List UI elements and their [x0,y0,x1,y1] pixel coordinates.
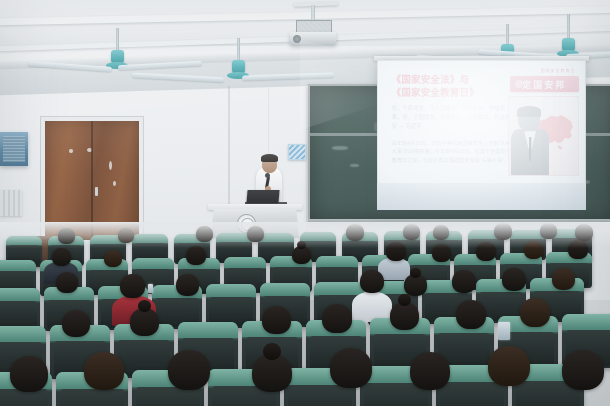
projector-mount-pole [311,5,315,21]
laptop[interactable] [246,190,279,203]
student-head [390,302,419,330]
lecture-hall-photo: 《国家安全法》与 《国家安全教育日》 安，千民兆言，乃人之根本，合民乐业，李福安… [0,0,610,406]
student-head [456,300,486,329]
student-head [346,224,364,241]
student-head [196,226,213,242]
cabinet-vent [3,136,25,162]
student-head [452,270,476,293]
student-head [262,306,291,334]
slide-lower-band [377,183,586,210]
slide-title-line-1: 《国家安全法》与 [392,74,509,88]
student-head [552,268,575,290]
smartphone[interactable] [498,322,510,340]
student-head [410,352,450,390]
student-head [186,246,206,265]
door-scuff [69,149,73,153]
ceiling-fan[interactable] [518,14,610,54]
slide-badge-text: 定国安邦 [522,78,566,91]
door-scuff [87,148,92,152]
student-head [524,241,543,259]
student-head [433,225,449,240]
student-head [247,226,264,242]
student-head [330,348,372,388]
student-head [58,228,75,244]
door-scuff [109,161,112,170]
wall-cabinet[interactable] [0,132,28,166]
speaker-hair [261,154,278,162]
student-head [130,308,159,336]
slide-title-line-2: 《国家安全教育日》 [392,87,509,101]
student-head [322,304,352,333]
student-head [562,350,604,390]
student-head [540,223,557,239]
slide-title: 《国家安全法》与 《国家安全教育日》 [392,74,509,102]
slide-quote: 安，千民兆言，乃人之根本，合民乐业，李福安事；安，于国而言，亦是和光，安邦固本，… [392,105,513,131]
ceiling-fan[interactable] [178,38,298,84]
student-head [360,270,384,293]
door-handle[interactable] [95,187,98,196]
smartphone[interactable] [148,284,153,293]
student-head [56,272,78,293]
student-head [386,242,406,261]
portrait-figure [511,106,548,175]
student-head [502,268,526,291]
student-head [520,298,550,327]
slide-badge-kicker: 国家安全教育日 [541,68,576,74]
microphone-capsule [265,173,270,178]
slide-body-text: 百年前4月15日，习近平等出席国家安全上升到“头等大事”的战略高度；今年前4月1… [392,140,513,166]
projection-screen[interactable]: 《国家安全法》与 《国家安全教育日》 安，千民兆言，乃人之根本，合民乐业，李福安… [377,60,586,210]
student-head [292,246,311,264]
student-head [432,244,451,262]
chalk-mark [350,164,359,167]
student-head [52,248,71,266]
student-head [84,352,124,390]
audience-area [0,222,610,406]
student-head [403,224,420,240]
slide-badge: 定国安邦 [510,76,579,93]
student-head [104,250,122,267]
student-head [488,346,530,386]
door-scuff [113,181,116,186]
slide-photo-card [508,96,579,176]
chalk-mark [332,146,348,150]
student-head [168,350,210,390]
student-head [575,224,593,241]
student-head [494,223,512,240]
student-head [120,274,145,298]
student-head [476,242,496,261]
student-head [62,310,90,337]
wall-radiator [0,190,22,216]
student-head [10,356,48,392]
wall-notice-sign[interactable] [288,144,306,160]
projector-lens [293,35,301,43]
ceiling-fan[interactable] [62,28,172,70]
student-head [176,274,199,296]
student-head [252,354,292,392]
student-head [404,274,427,296]
student-head [568,240,588,259]
student-head [118,228,134,243]
